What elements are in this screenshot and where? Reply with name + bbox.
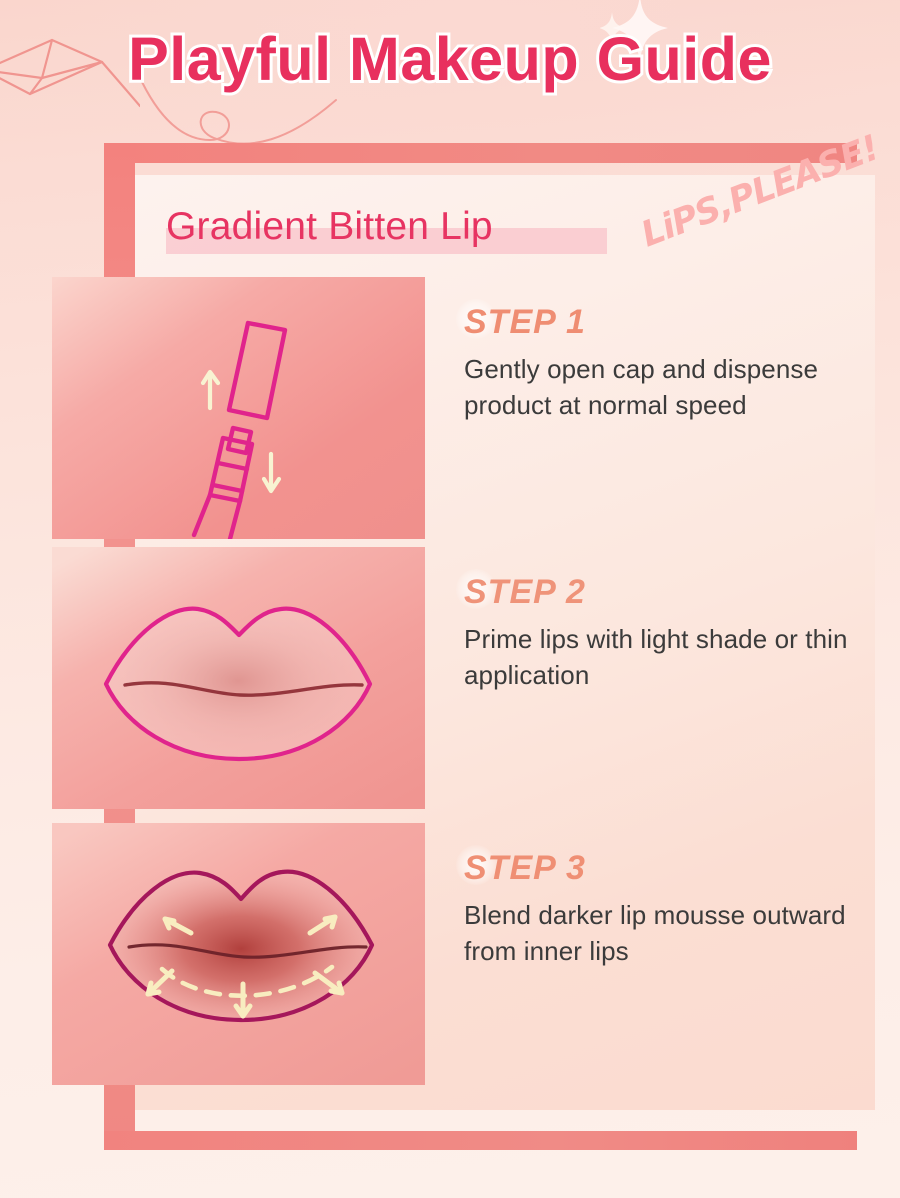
step-row-2: STEP 2 Prime lips with light shade or th…	[52, 547, 858, 809]
step-3-illustration	[52, 823, 425, 1085]
step-2-copy: STEP 2 Prime lips with light shade or th…	[464, 573, 858, 693]
step-3-description: Blend darker lip mousse outward from inn…	[464, 897, 858, 969]
page-title: Playful Makeup Guide	[0, 24, 900, 94]
step-2-illustration	[52, 547, 425, 809]
step-1-label: STEP 1	[464, 303, 858, 341]
section-heading: Gradient Bitten Lip	[166, 200, 493, 256]
step-3-copy: STEP 3 Blend darker lip mousse outward f…	[464, 849, 858, 969]
frame-bottom-bar	[104, 1131, 857, 1150]
section-heading-text: Gradient Bitten Lip	[166, 200, 493, 254]
step-1-description: Gently open cap and dispense product at …	[464, 351, 858, 423]
step-1-copy: STEP 1 Gently open cap and dispense prod…	[464, 303, 858, 423]
frame-top-bar	[104, 143, 857, 163]
step-2-label: STEP 2	[464, 573, 858, 611]
infographic-page: Playful Makeup Guide Gradient Bitten Lip…	[0, 0, 900, 1198]
step-3-label: STEP 3	[464, 849, 858, 887]
step-2-description: Prime lips with light shade or thin appl…	[464, 621, 858, 693]
step-row-3: STEP 3 Blend darker lip mousse outward f…	[52, 823, 858, 1085]
step-row-1: STEP 1 Gently open cap and dispense prod…	[52, 277, 858, 539]
step-1-illustration	[52, 277, 425, 539]
